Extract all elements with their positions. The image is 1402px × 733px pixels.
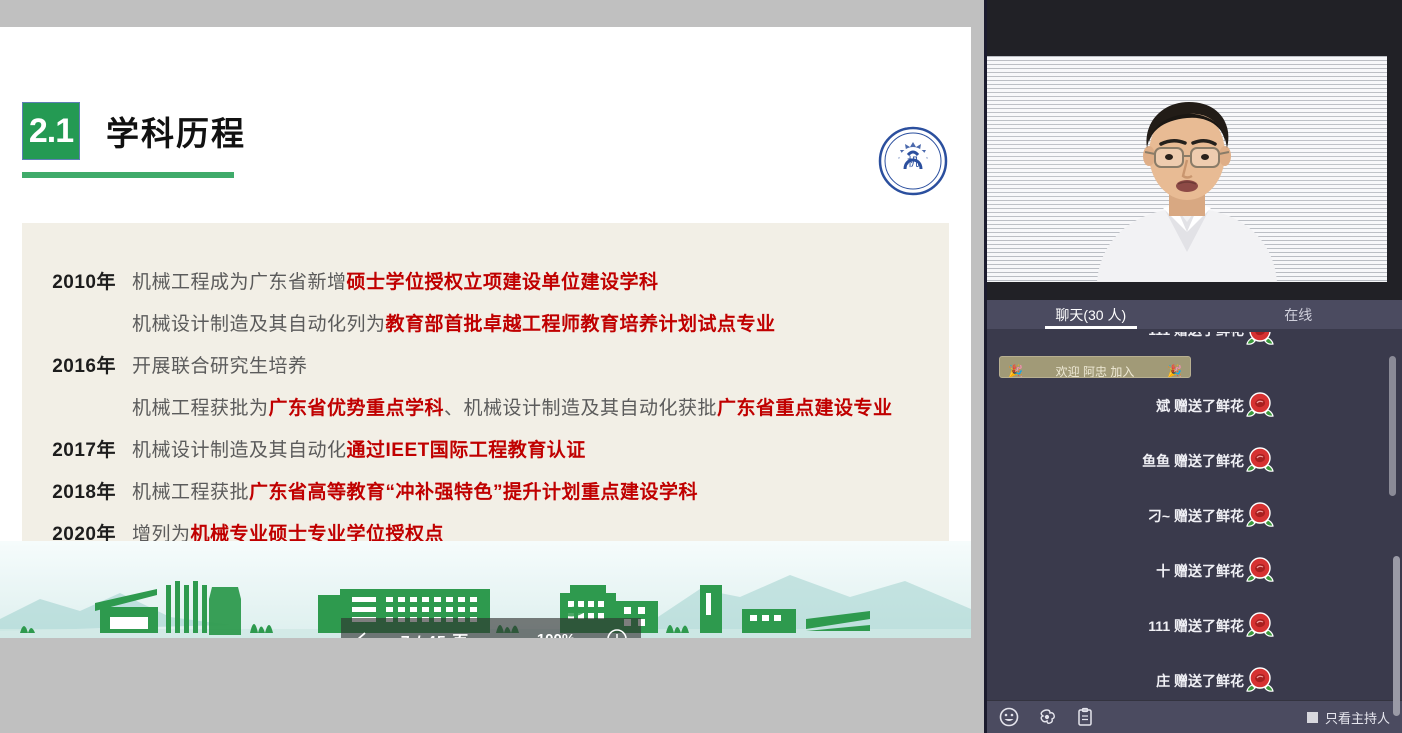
timeline-row: 2016年开展联合研究生培养: [40, 349, 949, 385]
rose-icon: [1244, 610, 1276, 642]
presenter-video[interactable]: [987, 56, 1387, 282]
join-notification-banner: 🎉欢迎 阿忠 加入🎉: [999, 356, 1191, 378]
section-number-badge: 2.1: [22, 102, 80, 160]
chat-message: 十 赠送了鲜花: [987, 543, 1372, 598]
highlight-text: 通过IEET国际工程教育认证: [347, 440, 586, 461]
svg-text:机: 机: [907, 155, 919, 169]
rose-icon: [1244, 665, 1276, 697]
chat-scrollbar[interactable]: [1389, 356, 1396, 496]
arrow-left-icon: [353, 631, 375, 639]
timeline-text: 机械工程获批为广东省优势重点学科、机械设计制造及其自动化获批广东省重点建设专业: [132, 391, 893, 427]
page-indicator: 7 / 45 页: [387, 628, 483, 639]
timeline-text: 机械工程成为广东省新增硕士学位授权立项建设单位建设学科: [132, 265, 659, 301]
rose-icon: [1244, 665, 1276, 697]
timeline-row: 2018年机械工程获批广东省高等教育“冲补强特色”提升计划重点建设学科: [40, 475, 949, 511]
slide-viewer-toolbar[interactable]: 7 / 45 页 100%: [341, 618, 641, 638]
tab-online[interactable]: 在线: [1195, 300, 1402, 329]
timeline-rows: 2010年机械工程成为广东省新增硕士学位授权立项建设单位建设学科机械设计制造及其…: [22, 223, 949, 553]
chat-message: 刁~ 赠送了鲜花: [987, 488, 1372, 543]
university-emblem-icon: 机: [877, 125, 949, 197]
timeline-year: 2017年: [40, 433, 132, 469]
zoom-in-button[interactable]: [595, 627, 641, 639]
chat-message-text: 111 赠送了鲜花: [1148, 332, 1244, 340]
chat-tool-icons: [999, 707, 1095, 727]
rose-icon: [1244, 332, 1276, 350]
highlight-text: 硕士学位授权立项建设单位建设学科: [347, 272, 659, 293]
party-popper-icon: 🎉: [1167, 364, 1182, 378]
highlight-text: 教育部首批卓越工程师教育培养计划试点专业: [386, 314, 776, 335]
normal-text: 开展联合研究生培养: [132, 356, 308, 377]
party-popper-icon: 🎉: [1008, 364, 1023, 378]
normal-text: 机械工程获批: [132, 482, 249, 503]
page-title: 学科历程: [106, 107, 246, 155]
chat-message: 斌 赠送了鲜花: [987, 378, 1372, 433]
rose-icon: [1244, 390, 1276, 422]
chat-action-bar: 只看主持人: [987, 700, 1402, 733]
panel-tabs[interactable]: 聊天(30 人)在线: [987, 300, 1402, 330]
normal-text: 、机械设计制造及其自动化获批: [444, 398, 717, 419]
rose-icon: [1244, 332, 1276, 350]
zoom-level-label: 100%: [517, 631, 595, 638]
clipboard-icon[interactable]: [1075, 707, 1095, 727]
tab-chat[interactable]: 聊天(30 人): [987, 300, 1195, 329]
host-only-checkbox[interactable]: [1307, 712, 1318, 723]
meeting-side-panel: 聊天(30 人)在线 111 赠送了鲜花 🎉欢迎 阿忠 加入🎉斌 赠送了鲜花 鱼…: [987, 0, 1402, 733]
normal-text: 机械工程成为广东省新增: [132, 272, 347, 293]
tab-label: 聊天(30 人): [1055, 305, 1126, 325]
zoom-out-button[interactable]: [483, 637, 517, 639]
flower-gift-icon[interactable]: [1037, 707, 1057, 727]
timeline-year: 2010年: [40, 265, 132, 301]
chat-message-list[interactable]: 111 赠送了鲜花 🎉欢迎 阿忠 加入🎉斌 赠送了鲜花 鱼鱼 赠送了鲜花 刁~ …: [987, 330, 1402, 700]
chat-message-text: 庄 赠送了鲜花: [1156, 671, 1244, 691]
presenter-figure: [1057, 82, 1317, 282]
normal-text: 机械设计制造及其自动化: [132, 440, 347, 461]
slide-title-row: 2.1 学科历程: [22, 102, 246, 160]
rose-icon: [1244, 445, 1276, 477]
highlight-text: 广东省重点建设专业: [717, 398, 893, 419]
timeline-row: 机械设计制造及其自动化列为教育部首批卓越工程师教育培养计划试点专业: [40, 307, 949, 343]
timeline-text: 机械工程获批广东省高等教育“冲补强特色”提升计划重点建设学科: [132, 475, 698, 511]
timeline-row: 2017年机械设计制造及其自动化通过IEET国际工程教育认证: [40, 433, 949, 469]
prev-page-button[interactable]: [341, 631, 387, 639]
rose-icon: [1244, 445, 1276, 477]
chat-message: 庄 赠送了鲜花: [987, 653, 1372, 700]
timeline-year: 2016年: [40, 349, 132, 385]
timeline-text: 开展联合研究生培养: [132, 349, 308, 385]
rose-icon: [1244, 555, 1276, 587]
chat-message-text: 鱼鱼 赠送了鲜花: [1142, 451, 1244, 471]
host-only-label: 只看主持人: [1325, 708, 1390, 727]
timeline-row: 2010年机械工程成为广东省新增硕士学位授权立项建设单位建设学科: [40, 265, 949, 301]
highlight-text: 广东省优势重点学科: [269, 398, 445, 419]
timeline-card: 2010年机械工程成为广东省新增硕士学位授权立项建设单位建设学科机械设计制造及其…: [22, 223, 949, 591]
chat-message: 111 赠送了鲜花: [987, 332, 1372, 352]
chat-message-text: 刁~ 赠送了鲜花: [1148, 506, 1244, 526]
host-only-toggle[interactable]: 只看主持人: [1307, 708, 1390, 727]
timeline-text: 机械设计制造及其自动化列为教育部首批卓越工程师教育培养计划试点专业: [132, 307, 776, 343]
chat-message-text: 斌 赠送了鲜花: [1156, 396, 1244, 416]
rose-icon: [1244, 610, 1276, 642]
rose-icon: [1244, 390, 1276, 422]
title-underline: [22, 172, 234, 178]
panel-scrollbar[interactable]: [1393, 556, 1400, 716]
zoom-in-icon: [605, 627, 631, 639]
smiley-icon[interactable]: [999, 707, 1019, 727]
chat-message: 111 赠送了鲜花: [987, 598, 1372, 653]
rose-icon: [1244, 500, 1276, 532]
normal-text: 机械设计制造及其自动化列为: [132, 314, 386, 335]
chat-message-text: 十 赠送了鲜花: [1156, 561, 1244, 581]
video-container: [987, 0, 1402, 300]
rose-icon: [1244, 555, 1276, 587]
slide-viewer-pane: 2.1 学科历程 机 2010年机械工程成为广东省新: [0, 0, 984, 733]
chat-message-text: 111 赠送了鲜花: [1148, 616, 1244, 636]
highlight-text: 广东省高等教育“冲补强特色”提升计划重点建设学科: [249, 482, 698, 503]
timeline-year: 2018年: [40, 475, 132, 511]
timeline-text: 机械设计制造及其自动化通过IEET国际工程教育认证: [132, 433, 586, 469]
join-banner-text: 欢迎 阿忠 加入: [1056, 363, 1135, 379]
chat-message: 鱼鱼 赠送了鲜花: [987, 433, 1372, 488]
tab-label: 在线: [1284, 305, 1312, 325]
minus-icon: [491, 637, 509, 639]
timeline-row: 机械工程获批为广东省优势重点学科、机械设计制造及其自动化获批广东省重点建设专业: [40, 391, 949, 427]
presentation-slide[interactable]: 2.1 学科历程 机 2010年机械工程成为广东省新: [0, 27, 971, 638]
normal-text: 机械工程获批为: [132, 398, 269, 419]
meeting-app: 2.1 学科历程 机 2010年机械工程成为广东省新: [0, 0, 1402, 733]
rose-icon: [1244, 500, 1276, 532]
